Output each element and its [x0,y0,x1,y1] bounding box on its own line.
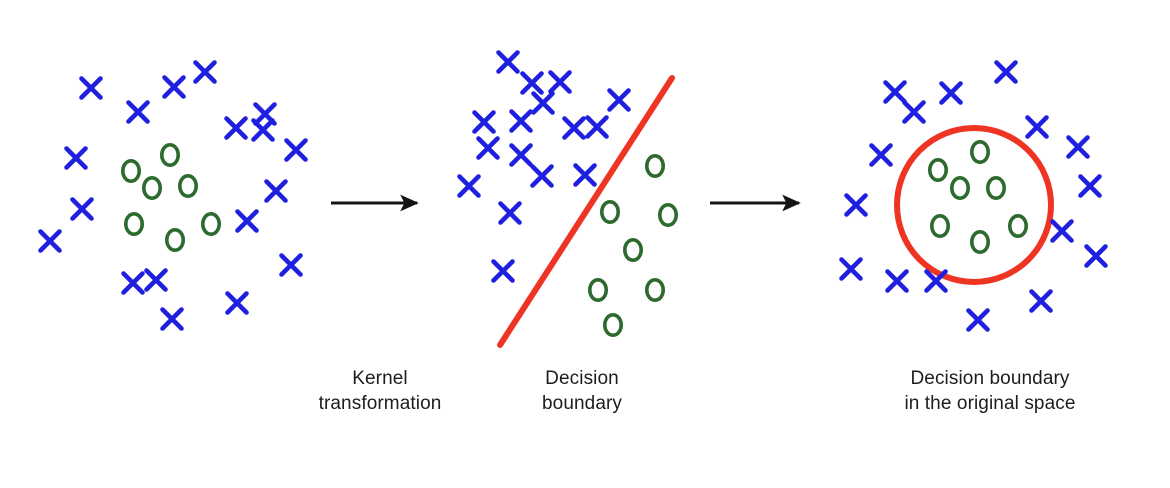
caption-kernel-transformation: Kernel transformation [290,366,470,416]
marker-cross [610,91,629,110]
marker-ring [203,214,219,234]
marker-cross [888,272,907,291]
marker-cross [196,63,215,82]
panel-original-space-with-boundary [842,63,1106,330]
marker-ring [647,156,663,176]
marker-cross [565,119,584,138]
marker-cross [227,119,246,138]
marker-cross [1087,247,1106,266]
marker-ring [162,145,178,165]
marker-cross [1053,222,1072,241]
marker-cross [997,63,1016,82]
marker-cross [588,118,607,137]
panel-input-space-class-x [41,63,306,329]
marker-cross [287,141,306,160]
marker-cross [534,94,553,113]
marker-cross [41,232,60,251]
marker-cross [1032,292,1051,311]
caption-decision-boundary-original-space: Decision boundary in the original space [850,366,1130,416]
panel-feature-space-class-x [460,53,629,281]
marker-cross [163,310,182,329]
marker-ring [930,160,946,180]
marker-cross [842,260,861,279]
marker-cross [969,311,988,330]
marker-cross [1069,138,1088,157]
marker-cross [479,139,498,158]
marker-ring [952,178,968,198]
marker-cross [228,294,247,313]
marker-ring [126,214,142,234]
marker-ring [180,176,196,196]
marker-cross [73,200,92,219]
panel-input-space-class-o [123,145,219,250]
marker-ring [988,178,1004,198]
panel-input-space [41,63,306,329]
marker-cross [82,79,101,98]
marker-cross [1081,177,1100,196]
marker-ring [660,205,676,225]
marker-cross [124,274,143,293]
marker-cross [460,177,479,196]
marker-cross [512,112,531,131]
svg-content [41,53,1106,346]
marker-ring [167,230,183,250]
marker-ring [123,161,139,181]
marker-cross [267,182,286,201]
panel-original-space-with-boundary-class-o [930,142,1026,252]
marker-cross [147,271,166,290]
marker-ring [605,315,621,335]
marker-ring [144,178,160,198]
marker-cross [67,149,86,168]
marker-cross [494,262,513,281]
marker-cross [942,84,961,103]
marker-cross [533,167,552,186]
marker-cross [256,105,275,124]
marker-ring [625,240,641,260]
marker-cross [165,78,184,97]
marker-cross [872,146,891,165]
marker-cross [886,83,905,102]
marker-cross [523,74,542,93]
marker-ring [590,280,606,300]
marker-cross [1028,118,1047,137]
caption-decision-boundary: Decision boundary [497,366,667,416]
figure-root: Kernel transformation Decision boundary … [0,0,1170,488]
marker-cross [847,196,866,215]
marker-cross [551,73,570,92]
marker-ring [972,142,988,162]
marker-cross [475,113,494,132]
marker-cross [501,204,520,223]
marker-ring [932,216,948,236]
panel-feature-space [460,53,677,346]
marker-cross [512,146,531,165]
marker-cross [238,212,257,231]
panel-original-space-with-boundary-class-x [842,63,1106,330]
marker-cross [905,103,924,122]
marker-cross [576,166,595,185]
marker-cross [499,53,518,72]
decision-boundary-circle [897,128,1051,282]
marker-ring [647,280,663,300]
marker-cross [129,103,148,122]
marker-ring [1010,216,1026,236]
marker-cross [282,256,301,275]
marker-ring [972,232,988,252]
marker-ring [602,202,618,222]
